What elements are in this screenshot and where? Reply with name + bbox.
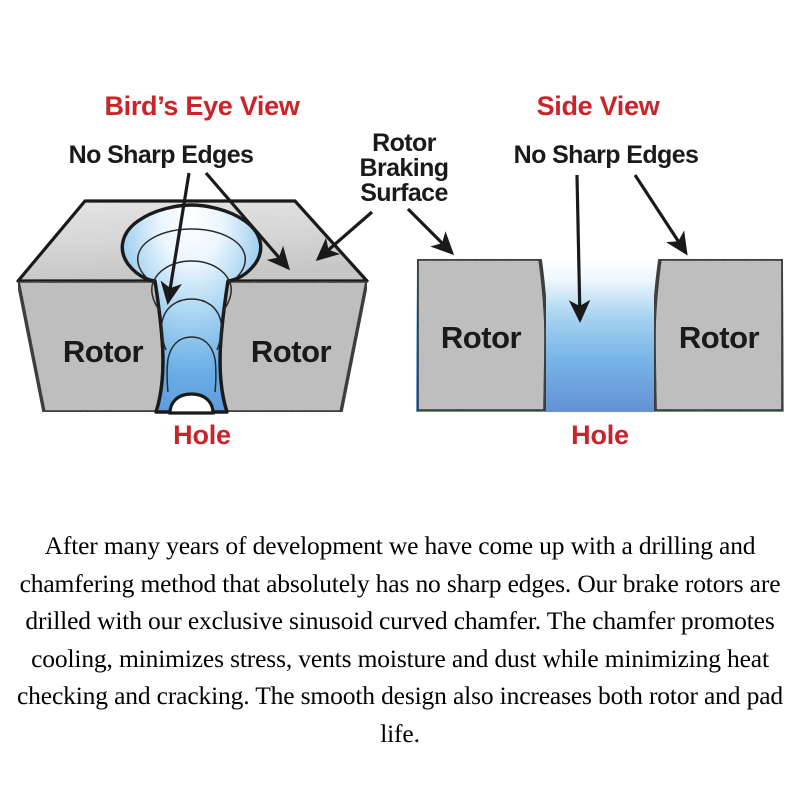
side-view-rotor-left-label: Rotor	[441, 320, 522, 355]
birds-eye-rotor-right-label: Rotor	[251, 334, 332, 369]
svg-text:Rotor: Rotor	[372, 129, 437, 157]
side-view-group: Side View No Sharp Edges Rotor Rotor Hol…	[408, 91, 784, 450]
side-view-no-sharp-edges-label: No Sharp Edges	[514, 141, 699, 169]
svg-text:Surface: Surface	[360, 179, 448, 207]
side-view-hole-label: Hole	[571, 420, 629, 450]
birds-eye-no-sharp-edges-label: No Sharp Edges	[69, 141, 254, 169]
side-view-arrow-right	[635, 175, 686, 253]
side-view-rotor-right-label: Rotor	[679, 320, 760, 355]
hole-opening-notch	[170, 394, 213, 413]
description-paragraph: After many years of development we have …	[8, 527, 792, 752]
braking-surface-arrow-right	[408, 209, 452, 253]
side-view-title: Side View	[537, 91, 661, 121]
svg-text:Braking: Braking	[360, 154, 449, 182]
birds-eye-rotor-left-label: Rotor	[63, 334, 144, 369]
birds-eye-hole-label: Hole	[173, 420, 231, 450]
birds-eye-view-group: Bird’s Eye View No Sharp Edges Rotor Bra…	[18, 91, 448, 450]
birds-eye-title: Bird’s Eye View	[104, 91, 300, 121]
braking-surface-label: Rotor Braking Surface	[360, 129, 449, 207]
